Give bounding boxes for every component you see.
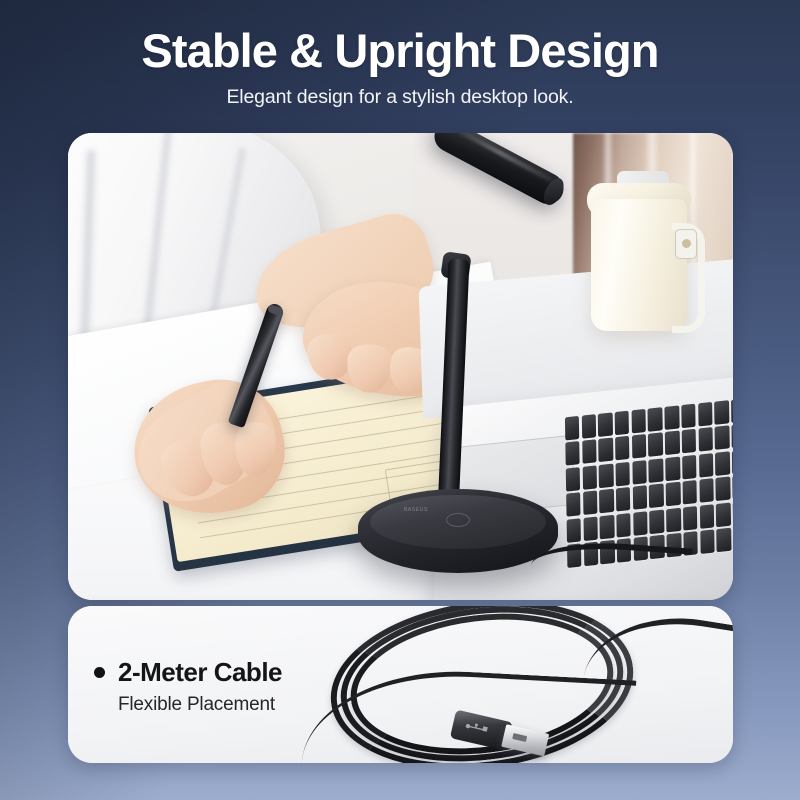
keyboard-key xyxy=(599,489,614,514)
keyboard-key xyxy=(650,509,665,534)
keyboard-key xyxy=(598,412,613,437)
keyboard-key xyxy=(716,528,731,553)
feature-subtitle: Flexible Placement xyxy=(118,694,282,716)
keyboard-key xyxy=(599,463,614,488)
keyboard-key xyxy=(699,504,714,529)
keyboard-key xyxy=(583,516,598,541)
keyboard-key xyxy=(666,482,681,507)
keyboard-key xyxy=(665,431,680,456)
keyboard-key xyxy=(648,433,663,458)
lamp-post xyxy=(437,259,469,514)
keyboard-key xyxy=(716,477,731,502)
keyboard-key xyxy=(583,491,598,516)
usb-symbol-icon xyxy=(464,721,491,736)
keyboard-key xyxy=(615,411,630,436)
keyboard-key xyxy=(566,467,581,492)
keyboard-key xyxy=(699,478,714,503)
bullet-dot-icon xyxy=(94,667,105,678)
keyboard-key xyxy=(682,429,697,454)
keyboard-key xyxy=(582,465,597,490)
keyboard-key xyxy=(565,441,580,466)
laptop-keyboard xyxy=(565,397,733,568)
keyboard-key xyxy=(633,511,648,536)
keyboard-key xyxy=(665,456,680,481)
keyboard-key xyxy=(648,407,663,432)
keyboard-key xyxy=(698,427,713,452)
lamp-head xyxy=(429,133,569,210)
keyboard-key xyxy=(666,507,681,532)
tumbler-cup xyxy=(587,171,699,331)
keyboard-key xyxy=(616,513,631,538)
keyboard-key xyxy=(632,460,647,485)
keyboard-key xyxy=(699,453,714,478)
desk-lifestyle-photo: BASEUS xyxy=(68,133,733,600)
keyboard-key xyxy=(582,440,597,465)
keyboard-key xyxy=(582,414,597,439)
keyboard-key xyxy=(683,506,698,531)
touch-button-icon[interactable] xyxy=(446,513,470,527)
feature-callout-cable: 2-Meter Cable Flexible Placement xyxy=(94,658,282,716)
keyboard-key xyxy=(631,409,646,434)
keyboard-key xyxy=(715,426,730,451)
keyboard-key xyxy=(566,492,581,517)
desk-lamp: BASEUS xyxy=(336,141,566,571)
keyboard-key xyxy=(565,416,580,441)
keyboard-key xyxy=(715,451,730,476)
keyboard-key xyxy=(700,529,715,554)
keyboard-key xyxy=(616,462,631,487)
usb-metal-tip xyxy=(501,724,549,756)
keyboard-key xyxy=(649,458,664,483)
keyboard-key xyxy=(682,455,697,480)
keyboard-key xyxy=(599,438,614,463)
keyboard-key xyxy=(732,449,733,474)
feature-card-secondary: 2-Meter Cable Flexible Placement xyxy=(68,606,733,763)
poster-header: Stable & Upright Design Elegant design f… xyxy=(0,0,800,109)
keyboard-key xyxy=(615,436,630,461)
keyboard-key xyxy=(716,502,731,527)
keyboard-key xyxy=(665,405,680,430)
keyboard-key xyxy=(616,487,631,512)
feature-title: 2-Meter Cable xyxy=(118,658,282,687)
keyboard-key xyxy=(632,434,647,459)
keyboard-key xyxy=(714,400,729,425)
keyboard-key xyxy=(600,514,615,539)
product-feature-poster: Stable & Upright Design Elegant design f… xyxy=(0,0,800,800)
keyboard-key xyxy=(633,485,648,510)
keyboard-key xyxy=(698,402,713,427)
page-subtitle: Elegant design for a stylish desktop loo… xyxy=(0,86,800,109)
keyboard-key xyxy=(731,398,733,423)
feature-card-primary: BASEUS Metallic Finish Scratch-Resistant xyxy=(68,133,733,600)
keyboard-key xyxy=(681,404,696,429)
keyboard-key xyxy=(567,518,582,543)
page-title: Stable & Upright Design xyxy=(0,26,800,77)
brand-logo: BASEUS xyxy=(404,507,428,513)
keyboard-key xyxy=(731,424,733,449)
keyboard-key xyxy=(649,484,664,509)
keyboard-key xyxy=(732,475,733,500)
keyboard-key xyxy=(682,480,697,505)
lamp-base: BASEUS xyxy=(358,489,558,573)
